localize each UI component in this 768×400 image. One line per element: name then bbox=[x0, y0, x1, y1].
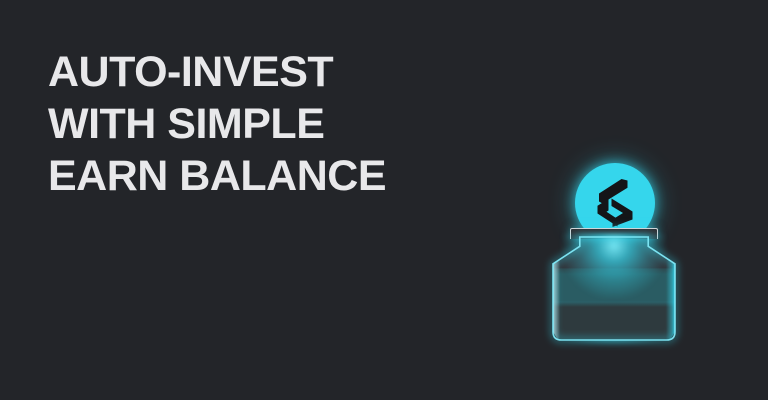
jar-rim bbox=[570, 228, 658, 239]
jar-body bbox=[553, 237, 675, 340]
auto-invest-banner: AUTO-INVEST WITH SIMPLE EARN BALANCE bbox=[0, 0, 768, 400]
headline-line-1: AUTO-INVEST bbox=[48, 46, 478, 98]
savings-jar-illustration bbox=[540, 150, 690, 355]
headline: AUTO-INVEST WITH SIMPLE EARN BALANCE bbox=[48, 46, 478, 202]
savings-jar bbox=[553, 228, 675, 340]
headline-line-3: EARN BALANCE bbox=[48, 150, 478, 202]
headline-line-2: WITH SIMPLE bbox=[48, 98, 478, 150]
angular-s-chevron-logo-icon bbox=[591, 177, 639, 229]
